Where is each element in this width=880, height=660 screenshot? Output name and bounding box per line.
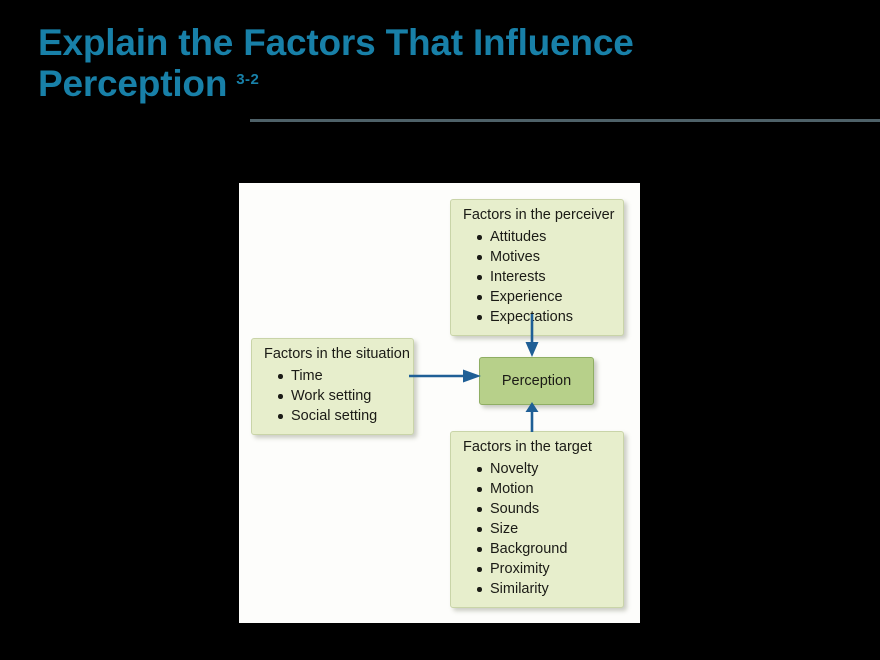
box-heading: Factors in the perceiver [463, 206, 613, 225]
page-title: Explain the Factors That Influence Perce… [38, 22, 838, 104]
box-factors-in-the-target: Factors in the target Novelty Motion Sou… [450, 431, 624, 608]
list-item: Background [477, 539, 613, 559]
list-item: Expectations [477, 307, 613, 327]
list-item: Experience [477, 287, 613, 307]
box-heading: Factors in the target [463, 438, 613, 457]
box-item-list: Novelty Motion Sounds Size Background Pr… [463, 459, 613, 599]
list-item: Novelty [477, 459, 613, 479]
list-item: Work setting [278, 386, 403, 406]
list-item: Proximity [477, 559, 613, 579]
box-heading: Factors in the situation [264, 345, 403, 364]
box-perception: Perception [479, 357, 594, 405]
list-item: Size [477, 519, 613, 539]
list-item: Time [278, 366, 403, 386]
list-item: Motion [477, 479, 613, 499]
perception-label: Perception [502, 373, 571, 389]
arrow-situation-to-perception [409, 369, 483, 383]
arrow-perceiver-to-perception [525, 314, 539, 358]
title-line-2: Perception [38, 63, 227, 104]
diagram-panel: Factors in the perceiver Attitudes Motiv… [239, 183, 640, 623]
list-item: Similarity [477, 579, 613, 599]
title-line-2-row: Perception 3-2 [38, 63, 838, 104]
list-item: Interests [477, 267, 613, 287]
title-objective-marker: 3-2 [236, 59, 259, 100]
box-item-list: Attitudes Motives Interests Experience E… [463, 227, 613, 327]
box-item-list: Time Work setting Social setting [264, 366, 403, 426]
list-item: Attitudes [477, 227, 613, 247]
list-item: Motives [477, 247, 613, 267]
box-factors-in-the-situation: Factors in the situation Time Work setti… [251, 338, 414, 435]
list-item: Social setting [278, 406, 403, 426]
list-item: Sounds [477, 499, 613, 519]
title-line-1: Explain the Factors That Influence [38, 22, 838, 63]
title-divider [250, 119, 880, 122]
arrow-target-to-perception [525, 402, 539, 432]
